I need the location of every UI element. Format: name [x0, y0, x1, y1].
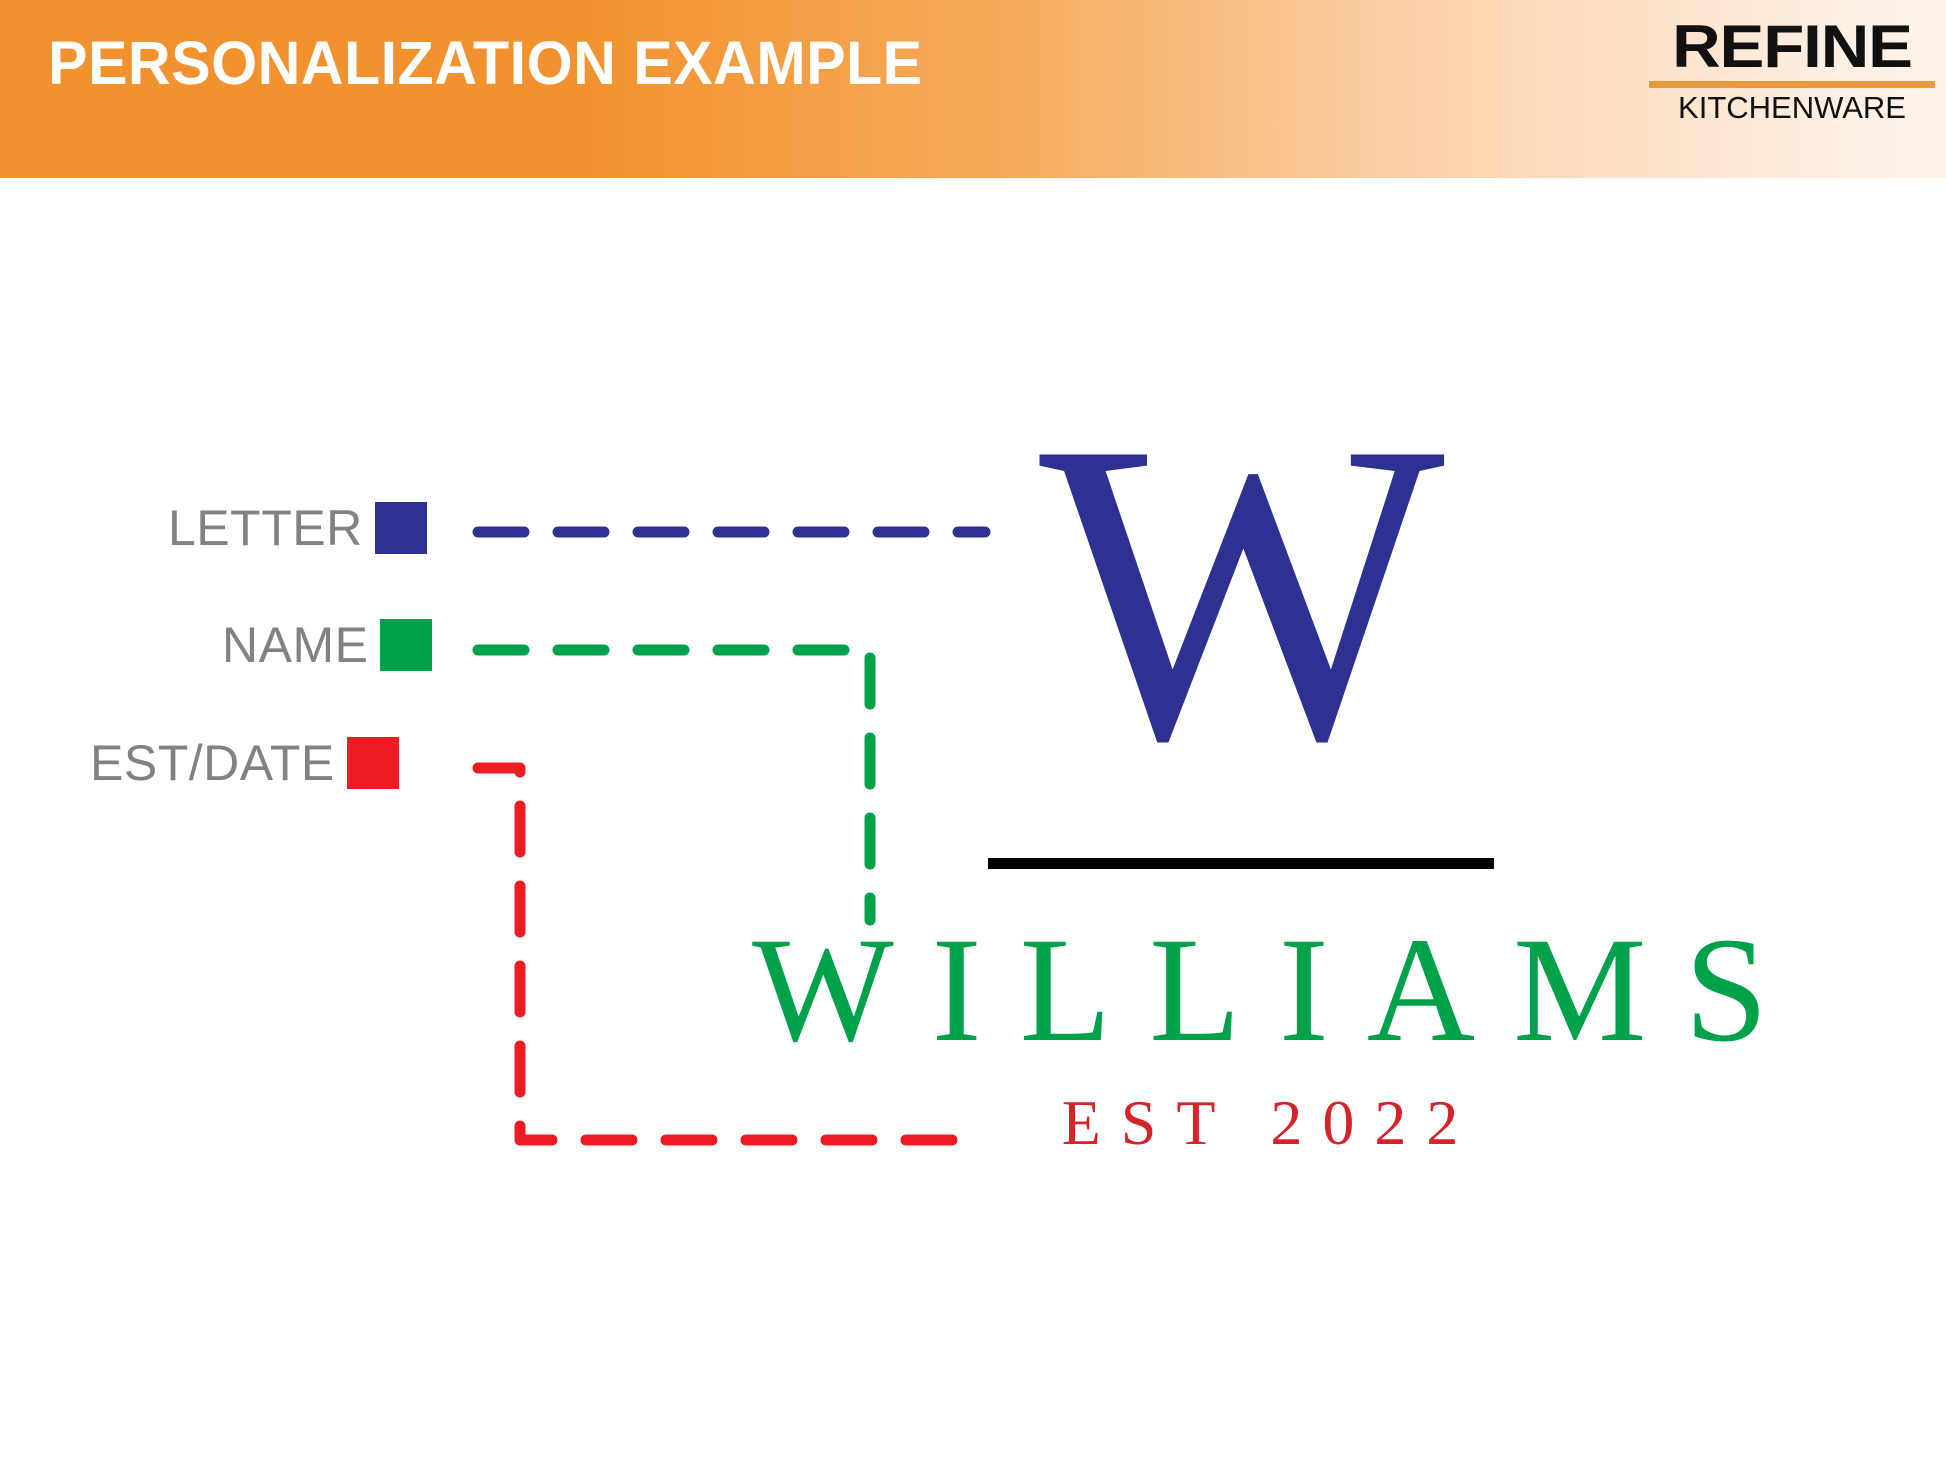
brand-logo: REFINE KITCHENWARE — [1646, 18, 1938, 126]
brand-rule — [1649, 81, 1935, 88]
brand-subtitle: KITCHENWARE — [1646, 90, 1938, 126]
page-title: PERSONALIZATION EXAMPLE — [48, 28, 923, 98]
legend-swatch-letter — [375, 502, 427, 554]
legend-label-est-date: EST/DATE — [90, 736, 335, 790]
established-date: EST 2022 — [700, 1088, 1820, 1158]
legend-swatch-name — [380, 619, 432, 671]
brand-name: REFINE — [1628, 18, 1946, 77]
legend-item-name[interactable]: NAME — [222, 618, 432, 672]
monogram-divider-rule — [988, 858, 1494, 869]
monogram-artwork: W — [980, 410, 1500, 776]
monogram-letter: W — [980, 410, 1500, 776]
legend-label-letter: LETTER — [168, 501, 363, 555]
name-connector-path — [478, 650, 870, 920]
legend-swatch-est-date — [347, 737, 399, 789]
legend-item-letter[interactable]: LETTER — [168, 501, 427, 555]
connector-lines — [0, 0, 1946, 1460]
legend-item-est-date[interactable]: EST/DATE — [90, 736, 399, 790]
legend-label-name: NAME — [222, 618, 368, 672]
family-name-wordmark: WILLIAMS — [600, 912, 1920, 1070]
